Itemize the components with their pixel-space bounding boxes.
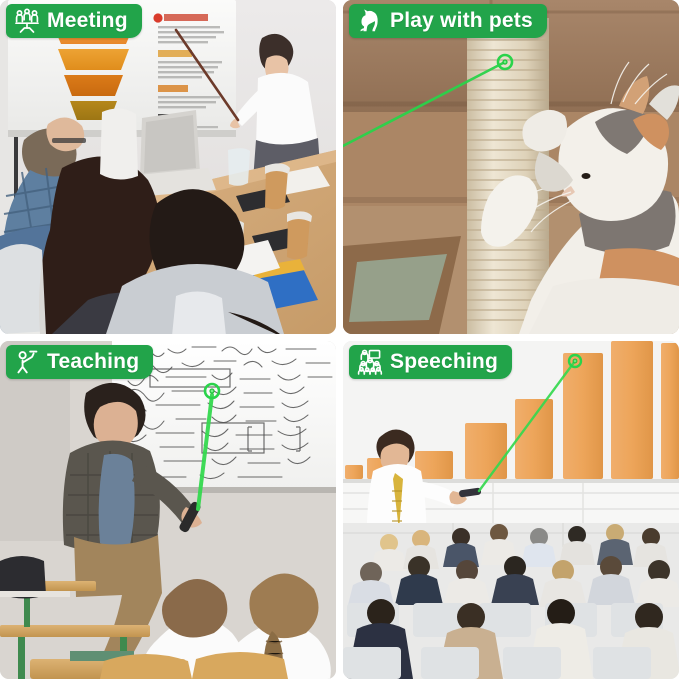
badge-label-meeting: Meeting	[47, 9, 128, 33]
meeting-scene	[0, 0, 336, 334]
panel-teaching[interactable]: Teaching	[0, 341, 336, 679]
speeching-scene	[343, 341, 679, 679]
badge-speeching[interactable]: Speeching	[349, 345, 512, 379]
people-at-table-icon	[14, 8, 40, 34]
presenter-audience-icon	[357, 349, 383, 375]
panel-meeting[interactable]: Meeting	[0, 0, 336, 334]
teacher-pointer-icon	[14, 349, 40, 375]
badge-play-with-pets[interactable]: Play with pets	[349, 4, 547, 38]
panel-speeching[interactable]: Speeching	[343, 341, 679, 679]
badge-teaching[interactable]: Teaching	[6, 345, 153, 379]
badge-label-speeching: Speeching	[390, 350, 498, 374]
badge-label-pets: Play with pets	[390, 9, 533, 33]
cat-icon	[357, 8, 383, 34]
badge-label-teaching: Teaching	[47, 350, 139, 374]
teaching-scene	[0, 341, 336, 679]
badge-meeting[interactable]: Meeting	[6, 4, 142, 38]
pets-scene	[343, 0, 679, 334]
collage-grid: Meeting	[0, 0, 679, 680]
panel-play-with-pets[interactable]: Play with pets	[343, 0, 679, 334]
